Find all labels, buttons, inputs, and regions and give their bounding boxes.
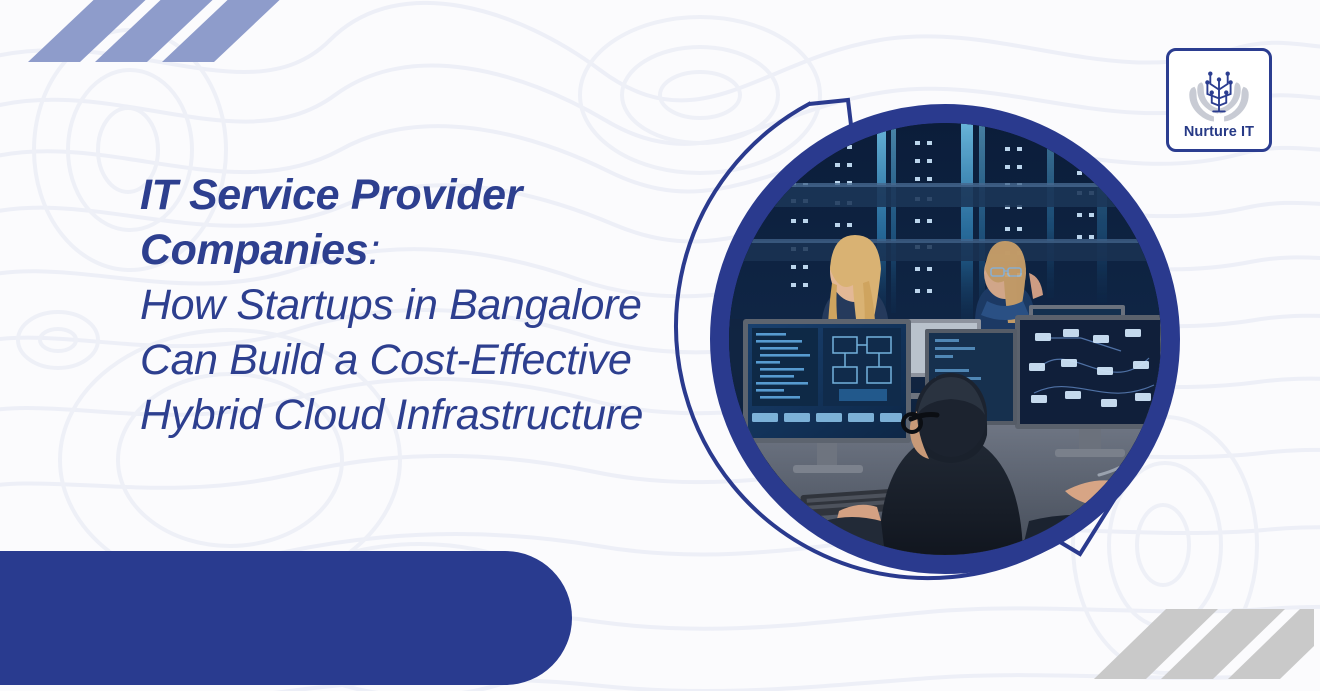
hero-photo xyxy=(729,123,1161,555)
headline-bold-part: IT Service Provider Companies xyxy=(140,171,522,274)
datacenter-photo-illustration xyxy=(729,123,1161,555)
navy-accent-bar xyxy=(0,551,572,685)
decorative-slashes-top-left xyxy=(0,0,294,102)
logo-text: Nurture IT xyxy=(1184,124,1254,140)
nurture-it-hands-circuit-icon xyxy=(1182,65,1256,123)
banner-canvas: IT Service Provider Companies:How Startu… xyxy=(0,0,1320,691)
brand-logo[interactable]: Nurture IT xyxy=(1166,48,1272,152)
headline-colon: : xyxy=(368,226,380,274)
hero-image-composition xyxy=(652,62,1212,622)
hero-photo-circle xyxy=(710,104,1180,574)
headline-subtitle: How Startups in Bangalore Can Build a Co… xyxy=(140,281,643,439)
page-title: IT Service Provider Companies:How Startu… xyxy=(140,168,660,443)
